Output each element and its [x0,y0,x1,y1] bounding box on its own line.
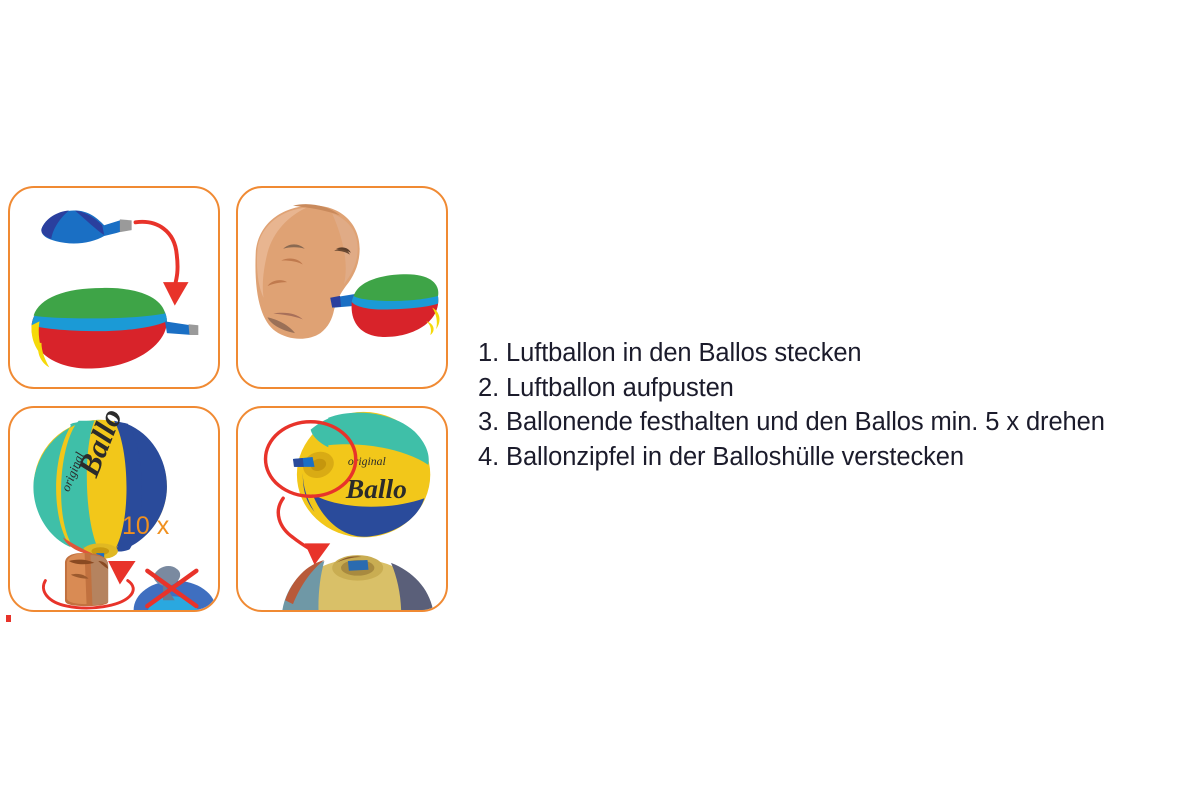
panel-insert-balloon [8,186,220,389]
instruction-item-3: 3. Ballonende festhalten und den Ballos … [478,405,1190,440]
panel-4-illustration: original Ballo [238,408,446,610]
instruction-item-2: 2. Luftballon aufpusten [478,371,1190,406]
insert-arrow-icon [136,222,189,306]
tucked-ballos-icon [281,555,434,610]
instruction-list: 1. Luftballon in den Ballos stecken 2. L… [478,336,1190,474]
panel-twist-ballos: original Ballo [8,406,220,612]
print-artifact-speck [6,615,11,622]
panel-hide-balloon-tip: original Ballo [236,406,448,612]
crossed-out-knot-icon [134,566,216,610]
turns-count-label: 10 x [122,512,169,541]
instruction-item-1: 1. Luftballon in den Ballos stecken [478,336,1190,371]
panel-2-illustration [238,188,446,387]
instruction-sheet: original Ballo [0,0,1200,800]
inflated-ballos-icon: original Ballo [293,412,430,538]
illustration-panel-grid: original Ballo [8,186,448,621]
folded-ballos-cover-icon [352,274,440,337]
panel-inflate-balloon [236,186,448,389]
gripping-hand-icon [65,553,108,606]
child-head-icon [255,204,359,339]
panel-1-illustration [10,188,218,387]
panel-3-illustration: original Ballo [10,408,218,610]
svg-text:Ballo: Ballo [345,474,407,504]
instruction-item-4: 4. Ballonzipfel in der Balloshülle verst… [478,440,1190,475]
deflated-balloon-icon [41,210,131,243]
